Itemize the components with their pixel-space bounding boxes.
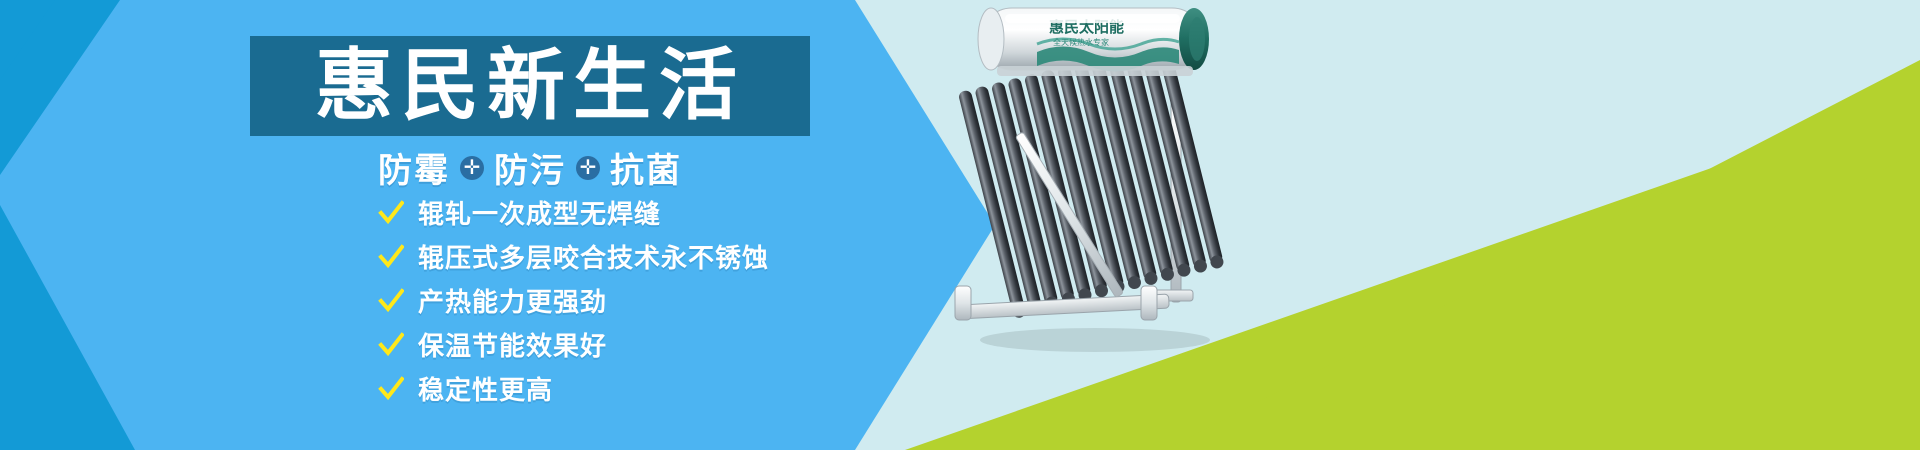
feature-label: 稳定性更高 (418, 370, 553, 407)
title-band: 惠民新生活 (250, 36, 810, 136)
feature-label: 保温节能效果好 (418, 326, 607, 363)
list-item: 稳定性更高 (378, 370, 769, 407)
feature-label: 产热能力更强劲 (418, 282, 607, 319)
tank-end-cap-inner (1189, 17, 1205, 61)
promo-banner: 惠民新生活 防霉 ✛ 防污 ✛ 抗菌 辊轧一次成型无焊缝 辊压式多层咬合技术永不… (0, 0, 1920, 450)
feature-label: 辊压式多层咬合技术永不锈蚀 (418, 238, 769, 275)
product-image-solar-water-heater: 惠民太阳能 全天候热水专家 (945, 0, 1275, 360)
tank-tube-collar (997, 66, 1193, 76)
tank-end-cap-left (978, 8, 1004, 70)
check-icon (378, 376, 404, 402)
list-item: 产热能力更强劲 (378, 282, 769, 319)
tank-brand-sub: 全天候热水专家 (1053, 37, 1109, 47)
list-item: 辊轧一次成型无焊缝 (378, 194, 769, 231)
product-shadow (980, 328, 1210, 352)
plus-icon: ✛ (576, 156, 600, 180)
list-item: 保温节能效果好 (378, 326, 769, 363)
plus-icon: ✛ (460, 156, 484, 180)
subtitle-word-2: 防污 (494, 143, 566, 192)
solar-water-heater-illustration: 惠民太阳能 全天候热水专家 (945, 0, 1275, 360)
vacuum-tube-array (958, 40, 1225, 319)
subtitle-row: 防霉 ✛ 防污 ✛ 抗菌 (250, 143, 810, 192)
check-icon (378, 332, 404, 358)
page-title: 惠民新生活 (315, 47, 745, 125)
subtitle-word-3: 抗菌 (610, 143, 682, 192)
storage-tank: 惠民太阳能 全天候热水专家 (978, 8, 1209, 72)
subtitle-word-1: 防霉 (378, 143, 450, 192)
list-item: 辊压式多层咬合技术永不锈蚀 (378, 238, 769, 275)
feature-label: 辊轧一次成型无焊缝 (418, 194, 661, 231)
check-icon (378, 244, 404, 270)
check-icon (378, 288, 404, 314)
feature-list: 辊轧一次成型无焊缝 辊压式多层咬合技术永不锈蚀 产热能力更强劲 保温节能效果好 … (378, 194, 769, 407)
check-icon (378, 200, 404, 226)
tank-highlight (1005, 14, 1180, 23)
